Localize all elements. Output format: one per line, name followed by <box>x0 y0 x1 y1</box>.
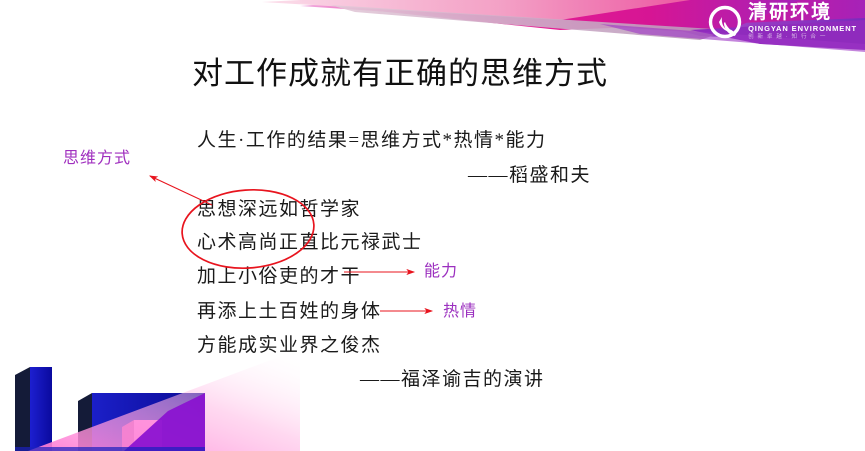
body-line-1: 人生·工作的结果=思维方式*热情*能力 <box>197 131 547 150</box>
logo-name-cn: 清研环境 <box>748 3 832 22</box>
annotation-label-thinking: 思维方式 <box>63 151 131 167</box>
annotation-label-passion: 热情 <box>443 304 477 320</box>
q-swoosh-logo-icon <box>708 5 742 39</box>
body-line-3: 心术高尚正直比元禄武士 <box>197 233 423 252</box>
logo-tagline: 创 新 卓 越 · 知 行 合 一 <box>748 35 826 41</box>
slide-title: 对工作成就有正确的思维方式 <box>0 55 800 92</box>
body-line-5: 再添上土百姓的身体 <box>197 302 382 321</box>
annotation-label-ability: 能力 <box>424 264 458 280</box>
body-line-4: 加上小俗吏的才干 <box>197 267 361 286</box>
body-line-6: 方能成实业界之俊杰 <box>197 336 382 355</box>
attribution-2: ——福泽谕吉的演讲 <box>360 370 545 389</box>
attribution-1: ——稻盛和夫 <box>468 166 591 185</box>
logo-name-en: QINGYAN ENVIRONMENT <box>748 25 857 33</box>
body-line-2: 思想深远如哲学家 <box>197 200 361 219</box>
slide-canvas: 清研环境 QINGYAN ENVIRONMENT 创 新 卓 越 · 知 行 合… <box>0 0 865 451</box>
brand-logo: 清研环境 QINGYAN ENVIRONMENT 创 新 卓 越 · 知 行 合… <box>708 3 857 40</box>
